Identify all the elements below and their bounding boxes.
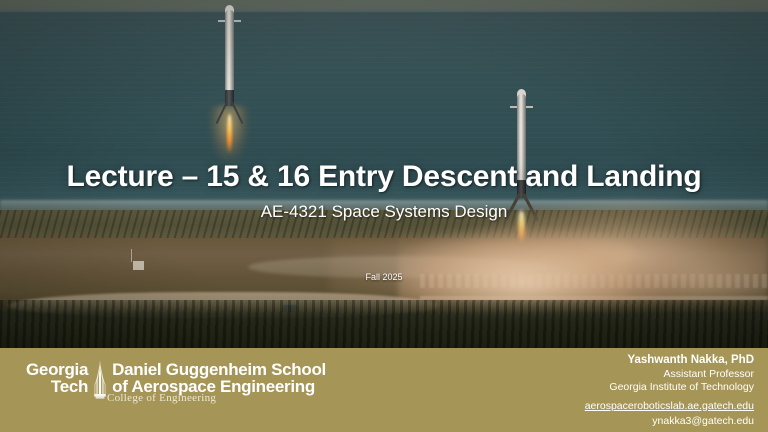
school-name: Daniel Guggenheim School of Aerospace En… bbox=[112, 360, 326, 395]
institution-name: Georgia Tech bbox=[26, 360, 88, 395]
presenter-name: Yashwanth Nakka, PhD bbox=[585, 353, 754, 368]
presenter-institution: Georgia Institute of Technology bbox=[585, 381, 754, 394]
booster-body bbox=[225, 10, 234, 102]
presenter-contact-block: Yashwanth Nakka, PhD Assistant Professor… bbox=[585, 353, 754, 429]
foreground-brush bbox=[0, 300, 768, 350]
grid-fin-left bbox=[510, 106, 517, 108]
institution-line2: Tech bbox=[26, 378, 88, 395]
footer-band: Georgia Tech Daniel Guggenheim School of… bbox=[0, 348, 768, 432]
presenter-email: ynakka3@gatech.edu bbox=[585, 415, 754, 428]
term-label: Fall 2025 bbox=[0, 272, 768, 282]
grid-fin-right bbox=[526, 106, 533, 108]
slide-subtitle: AE-4321 Space Systems Design bbox=[0, 202, 768, 222]
ground-tank bbox=[133, 261, 144, 270]
college-name: College of Engineering bbox=[107, 392, 216, 404]
ground-mast bbox=[131, 249, 132, 262]
grid-fin-left bbox=[218, 20, 225, 22]
slide-title: Lecture – 15 & 16 Entry Descent and Land… bbox=[0, 160, 768, 194]
presentation-title-slide: Lecture – 15 & 16 Entry Descent and Land… bbox=[0, 0, 768, 432]
title-block: Lecture – 15 & 16 Entry Descent and Land… bbox=[0, 160, 768, 222]
presenter-role: Assistant Professor bbox=[585, 368, 754, 381]
lab-website-link[interactable]: aerospaceroboticslab.ae.gatech.edu bbox=[585, 400, 754, 413]
grid-fin-right bbox=[234, 20, 241, 22]
engine-flame bbox=[227, 114, 232, 154]
